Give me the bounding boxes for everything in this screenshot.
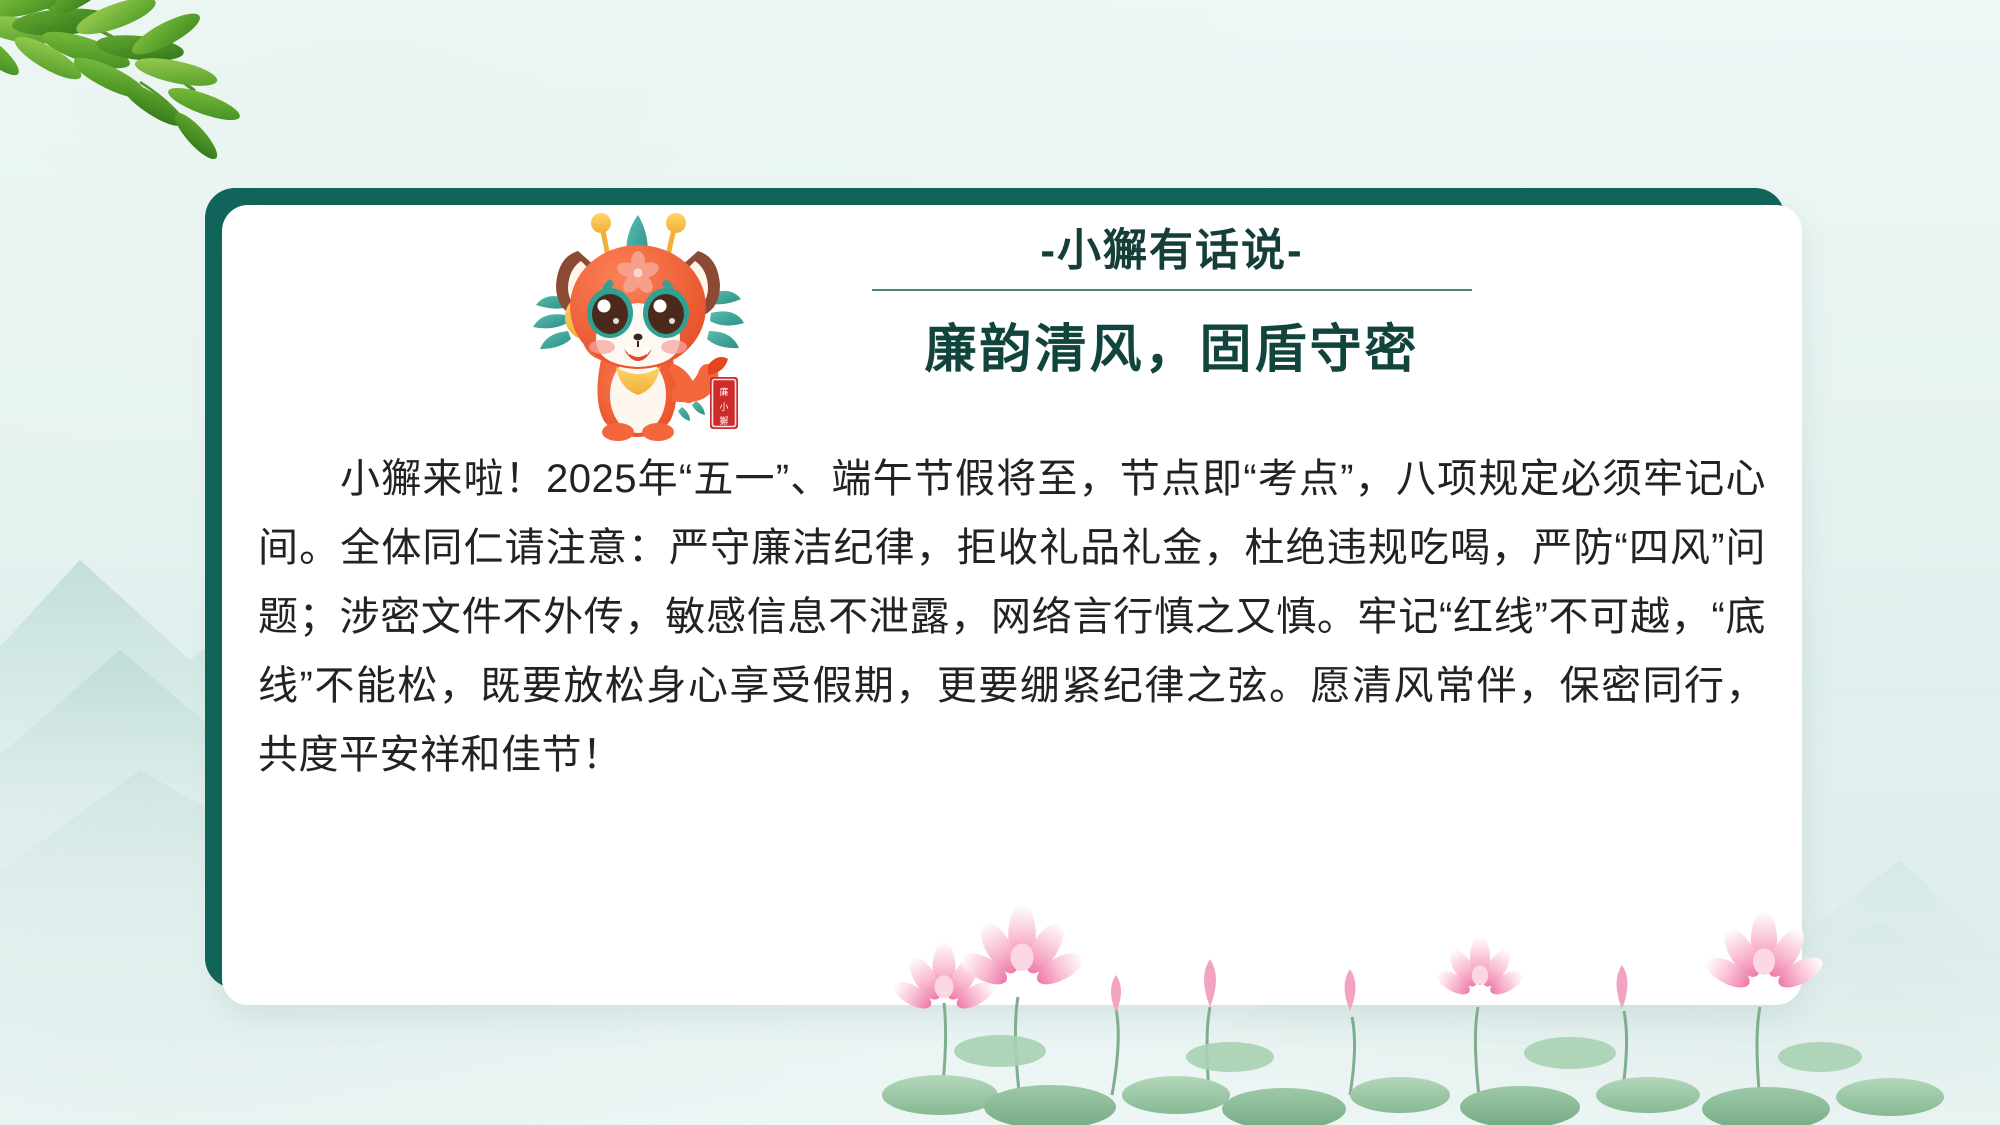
lotus-pond [880, 795, 2000, 1125]
headline-title: 廉韵清风，固盾守密 [862, 307, 1482, 382]
kicker-title: -小獬有话说- [862, 223, 1482, 278]
title-block: -小獬有话说- 廉韵清风，固盾守密 [862, 223, 1482, 382]
svg-text:小: 小 [719, 402, 728, 413]
card-header: 廉 小 獬 -小獬有话说- 廉韵清风，固盾守密 [222, 205, 1802, 437]
svg-text:廉: 廉 [719, 386, 728, 398]
bamboo-leaves [0, 0, 410, 216]
svg-text:獬: 獬 [719, 415, 728, 427]
mascot-xiaoxie-icon: 廉 小 獬 [512, 205, 762, 445]
title-divider [872, 289, 1472, 291]
body-paragraph: 小獬来啦！2025年“五一”、端午节假将至，节点即“考点”，八项规定必须牢记心间… [258, 445, 1766, 790]
body-copy: 小獬来啦！2025年“五一”、端午节假将至，节点即“考点”，八项规定必须牢记心间… [222, 445, 1802, 790]
